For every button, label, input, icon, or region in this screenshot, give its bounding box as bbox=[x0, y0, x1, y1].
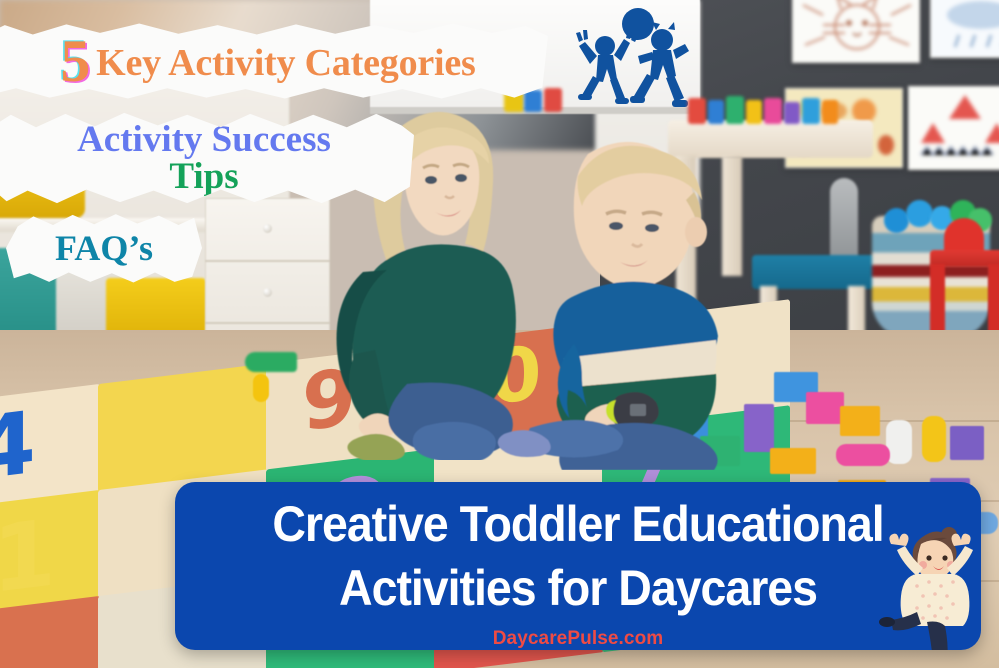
wooden-block bbox=[950, 426, 984, 460]
jumping-girl-illustration bbox=[865, 518, 975, 650]
triangle-doodle-icon bbox=[915, 93, 999, 165]
banner-faq: FAQ’s bbox=[6, 212, 202, 284]
wooden-block bbox=[840, 406, 880, 436]
banner-tips-line2: Tips bbox=[77, 158, 331, 195]
cat-doodle-icon bbox=[793, 0, 921, 64]
childrens-drawing-triangles bbox=[908, 86, 999, 170]
website-url[interactable]: DaycarePulse.com bbox=[175, 628, 981, 650]
cylinder-block bbox=[836, 444, 890, 466]
childrens-drawing-cat bbox=[792, 0, 920, 63]
main-title-line1: Creative Toddler Educational bbox=[203, 492, 953, 556]
green-toy-animal bbox=[245, 352, 297, 372]
banner-categories-number: 5 bbox=[60, 28, 90, 94]
rocking-horse-backrest bbox=[944, 218, 984, 254]
yellow-cylinder-block bbox=[253, 374, 269, 402]
wooden-block bbox=[770, 448, 816, 474]
drawer-knob[interactable] bbox=[263, 288, 272, 297]
main-title-line2: Activities for Daycares bbox=[203, 556, 953, 620]
childrens-drawing-rain bbox=[930, 0, 999, 58]
banner-categories-text: 5Key Activity Categories bbox=[60, 27, 475, 96]
toddler-boy-striped-sweater bbox=[470, 128, 770, 470]
banner-faq-text: FAQ’s bbox=[55, 227, 153, 269]
chair-back bbox=[830, 178, 858, 264]
banner-tips-line1: Activity Success bbox=[77, 121, 331, 158]
main-title-card: Creative Toddler Educational Activities … bbox=[175, 482, 981, 650]
drawer-knob[interactable] bbox=[263, 224, 272, 233]
two-children-playing-ball-icon bbox=[560, 2, 700, 120]
wooden-block bbox=[806, 392, 844, 424]
banner-tips-text: Activity Success Tips bbox=[77, 121, 331, 195]
main-title: Creative Toddler Educational Activities … bbox=[203, 492, 953, 620]
banner-categories-label: Key Activity Categories bbox=[96, 42, 476, 84]
cylinder-block bbox=[922, 416, 946, 462]
rain-cloud-doodle-icon bbox=[935, 0, 999, 53]
childs-chair bbox=[752, 255, 877, 289]
banner-key-activity-categories: 5Key Activity Categories bbox=[0, 22, 548, 100]
toy-ball bbox=[906, 200, 933, 227]
poster-canvas: 4 9 0 1 O 7 bbox=[0, 0, 999, 668]
